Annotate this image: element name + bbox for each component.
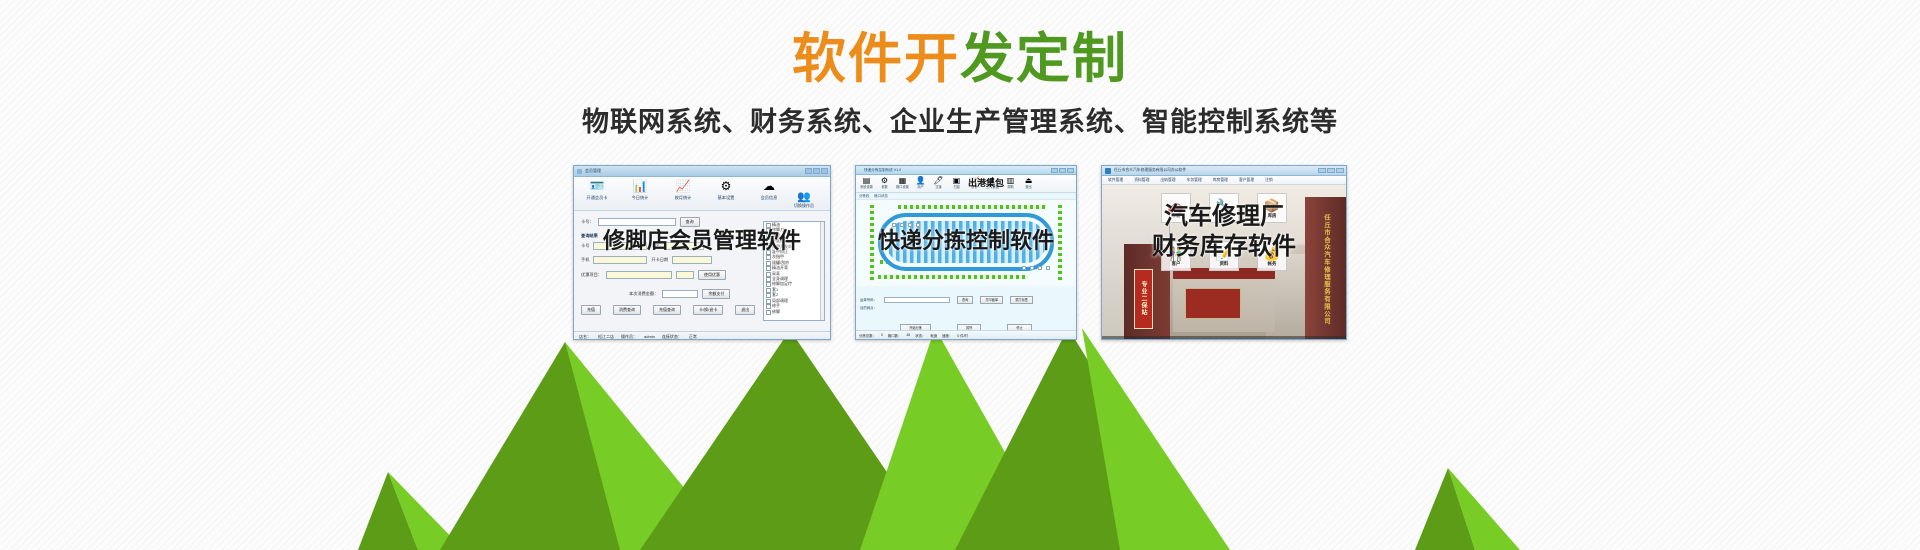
menu-item-warehouse[interactable]: 库房管理 [1213, 178, 1228, 183]
titlebar: 任丘市合众汽车修理服务有限公司办公软件 [1102, 166, 1346, 176]
page-title: 软件开发定制 [792, 28, 1128, 90]
toolbar[interactable]: ▤系统设置 ⚙参数 ▦格口设置 👤用户 🖊交接 ▣扫描 📈统计 ⬆上传数据 ▥帮… [856, 175, 1076, 193]
chute-checkbox[interactable] [916, 223, 920, 227]
toolbar-item-chute-settings[interactable]: ▦格口设置 [895, 176, 910, 190]
promo-banner: 软件开发定制 物联网系统、财务系统、企业生产管理系统、智能控制系统等 会员管理 … [0, 0, 1920, 550]
switch-operator-button[interactable]: 👥 切换操作员 [787, 191, 821, 209]
minimize-icon[interactable] [805, 168, 812, 174]
screenshot-caption: 修脚店会员管理软件 [574, 228, 830, 254]
mountain-peak-5-dark [1415, 468, 1475, 550]
close-icon[interactable] [1067, 168, 1074, 173]
ribbon-item-settings[interactable]: ⚙ 基本设置 [709, 179, 743, 201]
list-icon: ▤ [859, 176, 874, 185]
chute-checkbox[interactable] [900, 223, 904, 227]
status-operator-value: admin [644, 334, 655, 339]
chute-checkbox[interactable] [1038, 266, 1042, 270]
mountain-peak-4-light [1082, 328, 1230, 550]
window-controls[interactable] [1051, 168, 1074, 173]
line-chart-icon: 📈 [666, 179, 700, 194]
toolbar-label: 交接 [931, 185, 946, 190]
toolbar-item-user[interactable]: 👤用户 [913, 176, 928, 190]
card-change-refund-button[interactable]: 卡/换/退卡 [693, 305, 723, 315]
field-input-phone[interactable] [593, 256, 647, 264]
status-bar: 店名： 松江二店 操作员： admin 连接状态： 正常 [574, 331, 830, 340]
toolbar-label: 帮助 [1003, 185, 1018, 190]
titlebar: 会员管理 [574, 166, 830, 177]
screenshot-strip: 会员管理 🪪 开通会员卡 📊 今日统计 📈 按月统计 [0, 165, 1920, 340]
print-waybill-button[interactable]: 打印面单 [980, 296, 1003, 304]
discount-extra-input[interactable] [676, 271, 694, 279]
destination-label: 目的网点： [860, 305, 1072, 311]
gate-sign: 专业二保站 [1134, 269, 1154, 328]
screenshot-courier-sorting[interactable]: 快递分拣控制系统 V1.0 ▤系统设置 ⚙参数 ▦格口设置 👤用户 🖊交接 ▣扫… [855, 165, 1077, 340]
toolbar-label: 格口设置 [895, 185, 910, 190]
exit-button[interactable]: 退出 [735, 305, 755, 315]
window-controls[interactable] [805, 168, 828, 174]
status-store-value: 松江二店 [598, 334, 614, 340]
screenshot-member-management[interactable]: 会员管理 🪪 开通会员卡 📊 今日统计 📈 按月统计 [573, 165, 831, 340]
minimize-icon[interactable] [1318, 168, 1326, 173]
gear-icon: ⚙ [877, 176, 892, 185]
pen-icon: 🖊 [931, 176, 946, 185]
switch-user-icon: 👥 [787, 191, 821, 203]
page-title-part-orange: 软件开 [792, 29, 960, 89]
ribbon-item-member-info[interactable]: ☁ 会员信息 [752, 179, 786, 201]
discount-label: 优惠项目： [581, 272, 602, 278]
ribbon-item-open-card[interactable]: 🪪 开通会员卡 [580, 179, 614, 201]
ribbon-label: 基本设置 [709, 194, 743, 201]
window-body: 🪪 开通会员卡 📊 今日统计 📈 按月统计 ⚙ 基本设置 [574, 177, 830, 340]
bar-chart-icon: 📊 [623, 179, 657, 194]
toolbar-item-scan[interactable]: ▣扫描 [949, 176, 964, 190]
status-speed-value: 0 件/时 [957, 333, 968, 338]
chute-strip-top [898, 205, 1046, 209]
menu-item-data[interactable]: 资料管理 [1134, 178, 1149, 183]
chute-strip-bottom [878, 275, 1028, 279]
toolbar-item-handover[interactable]: 🖊交接 [931, 176, 946, 190]
headline-container: 软件开发定制 [0, 28, 1920, 90]
close-icon[interactable] [821, 168, 828, 174]
scan-icon: ▣ [949, 176, 964, 185]
ribbon-label: 今日统计 [623, 194, 657, 201]
status-chute-label: 格口数： [888, 333, 902, 338]
menu-item-logout[interactable]: 注销 [1265, 178, 1273, 183]
titlebar: 快递分拣控制系统 V1.0 [856, 166, 1076, 175]
status-state-label: 状态： [915, 333, 925, 338]
status-store-label: 店名： [579, 334, 591, 340]
mountain-peak-1-light [388, 472, 464, 550]
status-total-value: 0 [881, 333, 883, 337]
sub-toolbar: 分拣线 格口状态 [856, 193, 1076, 200]
status-total-label: 分拣总数： [859, 333, 876, 338]
ribbon-item-today-stats[interactable]: 📊 今日统计 [623, 179, 657, 201]
menu-item-cashier[interactable]: 出纳管理 [1160, 178, 1175, 183]
total-label: 本次消费金额： [629, 291, 658, 297]
total-input[interactable] [662, 290, 698, 298]
switch-operator-label: 切换操作员 [787, 203, 821, 209]
page-title-part-green: 发定制 [960, 29, 1128, 89]
window-title: 任丘市合众汽车修理服务有限公司办公软件 [1114, 168, 1186, 173]
close-icon[interactable] [1336, 168, 1344, 173]
toolbar-item-params[interactable]: ⚙参数 [877, 176, 892, 190]
scan-form: 运单号码： 查询 打印面单 重打标签 目的网点： 开始分拣 暂停 停止 [856, 286, 1076, 336]
ribbon-label: 开通会员卡 [580, 194, 614, 201]
mountain-peak-2-light [565, 342, 735, 550]
mountain-peak-3-dark [640, 330, 940, 550]
ribbon-item-monthly-stats[interactable]: 📈 按月统计 [666, 179, 700, 201]
search-button[interactable]: 查询 [680, 217, 700, 227]
toolbar-label: 系统设置 [859, 185, 874, 190]
ribbon-label: 会员信息 [752, 194, 786, 201]
toolbar-label: 退出 [1021, 185, 1036, 190]
toolbar-label: 扫描 [949, 185, 964, 190]
field-label: 开卡日期 [651, 257, 668, 263]
grid-icon: ▦ [895, 176, 910, 185]
search-label: 卡号： [581, 219, 594, 225]
status-speed-label: 速度： [942, 333, 952, 338]
cloud-icon: ☁ [752, 179, 786, 194]
chute-checkbox[interactable] [1030, 266, 1034, 270]
mountain-decoration [0, 320, 1920, 550]
window-title: 快递分拣控制系统 V1.0 [856, 166, 1076, 175]
query-button[interactable]: 查询 [957, 296, 973, 304]
maximize-icon[interactable] [1059, 168, 1066, 173]
user-icon: 👤 [913, 176, 928, 185]
toolbar-item-exit[interactable]: ⏏退出 [1021, 176, 1036, 190]
screenshot-caption-line1: 汽车修理厂 [1102, 202, 1346, 232]
sub-label-chute: 格口状态 [874, 193, 888, 199]
chute-checkbox[interactable] [892, 223, 896, 227]
status-state-value: 就绪 [930, 333, 937, 338]
toolbar-label: 用户 [913, 185, 928, 190]
list-item[interactable]: 修脚 [764, 309, 824, 314]
menu-item-software[interactable]: 软件管理 [1108, 178, 1123, 183]
maximize-icon[interactable] [813, 168, 820, 174]
recharge-query-button[interactable]: 充值查询 [653, 305, 681, 315]
mountain-peak-1-dark [358, 472, 418, 550]
mountain-peak-5-light [1448, 468, 1520, 550]
discount-input[interactable] [606, 271, 672, 279]
search-input[interactable] [598, 218, 676, 226]
toolbar-item-help[interactable]: ▥帮助 [1003, 176, 1018, 190]
app-icon [577, 169, 582, 174]
gear-icon: ⚙ [709, 179, 743, 194]
status-chute-value: 48 [906, 333, 910, 337]
status-connection-value: 正常 [689, 334, 697, 340]
mountain-peak-2-dark [440, 342, 690, 550]
toolbar-title: 出港集包 [968, 177, 1004, 189]
menu-item-vehicle[interactable]: 车务管理 [1187, 178, 1202, 183]
maximize-icon[interactable] [1327, 168, 1335, 173]
gate-sign-text: 专业二保站 [1139, 281, 1148, 316]
toolbar-label: 参数 [877, 185, 892, 190]
chute-checkbox[interactable] [1046, 266, 1050, 270]
use-discount-button[interactable]: 使用优惠 [698, 270, 726, 280]
reprint-label-button[interactable]: 重打标签 [1010, 296, 1033, 304]
toolbar-item-system-settings[interactable]: ▤系统设置 [859, 176, 874, 190]
waybill-row: 运单号码： 查询 打印面单 重打标签 [860, 296, 1072, 304]
mountain-peak-3-light [860, 328, 1060, 550]
screenshot-caption: 快递分拣控制软件 [856, 228, 1076, 254]
sub-label-line: 分拣线 [859, 193, 869, 199]
chute-checkbox[interactable] [908, 223, 912, 227]
menu-item-customer[interactable]: 客户管理 [1239, 178, 1254, 183]
window-controls[interactable] [1318, 168, 1344, 173]
field-input-opendate[interactable] [672, 256, 712, 264]
minimize-icon[interactable] [1051, 168, 1058, 173]
status-bar: 分拣总数： 0 格口数： 48 状态： 就绪 速度： 0 件/时 [856, 330, 1076, 339]
action-button-row: 充值 消费查询 充值查询 卡/换/退卡 退出 [581, 305, 763, 315]
recharge-button[interactable]: 充值 [581, 305, 601, 315]
chute-checkbox[interactable] [1022, 266, 1026, 270]
exit-icon: ⏏ [1021, 176, 1036, 185]
ribbon-label: 按月统计 [666, 194, 700, 201]
waybill-input[interactable] [884, 297, 950, 303]
help-icon: ▥ [1003, 176, 1018, 185]
status-connection-label: 连接状态： [662, 334, 682, 340]
screenshot-auto-repair[interactable]: 任丘市合众汽车修理服务有限公司办公软件 软件管理 资料管理 出纳管理 车务管理 … [1101, 165, 1347, 340]
waybill-label: 运单号码： [860, 297, 877, 303]
mountain-peak-4-dark [955, 328, 1205, 550]
card-icon: 🪪 [580, 179, 614, 194]
status-bar [1102, 336, 1346, 340]
consumption-query-button[interactable]: 消费查询 [613, 305, 641, 315]
screenshot-caption-line2: 财务库存软件 [1102, 232, 1346, 262]
balance-pay-button[interactable]: 余额支付 [702, 289, 730, 299]
form-group-label [860, 289, 1072, 295]
app-icon [1105, 168, 1111, 174]
menu-bar[interactable]: 软件管理 资料管理 出纳管理 车务管理 库房管理 客户管理 注销 [1102, 176, 1346, 185]
photo-red-sign [1185, 288, 1241, 319]
page-subtitle: 物联网系统、财务系统、企业生产管理系统、智能控制系统等 [0, 104, 1920, 140]
status-operator-label: 操作员： [621, 334, 637, 340]
field-label: 手机 [581, 257, 589, 263]
